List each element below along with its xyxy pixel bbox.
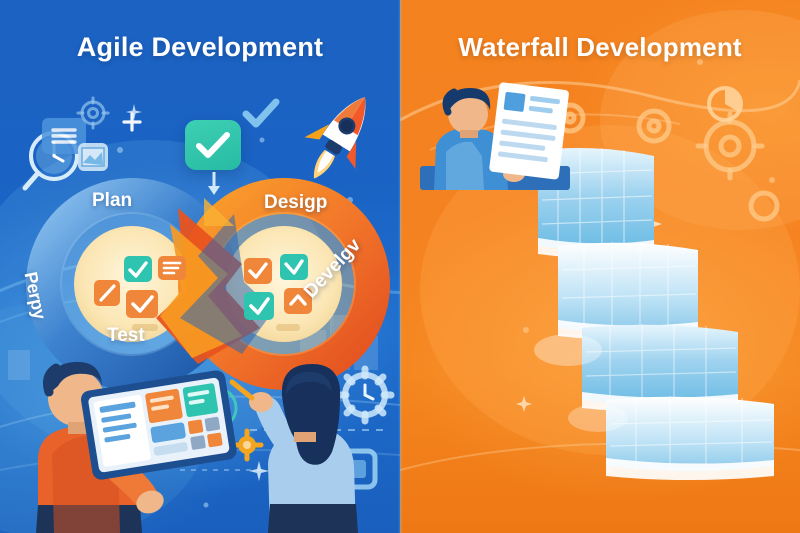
analyst-pointing [236,336,376,533]
loop-label-plan: Plan [92,190,132,212]
requirements-author [420,80,570,190]
developer-with-tablet [8,330,198,533]
blue-check-icon [240,96,282,130]
rocket-icon [290,82,390,192]
hamburger-list-icon [42,118,86,154]
waterfall-panel: Waterfall Development [400,0,800,533]
waterfall-cascade [528,150,780,480]
power-icon [193,385,239,431]
gear-icon [76,96,110,130]
sparkle-small-icon [126,104,142,120]
infographic-canvas: Agile Development [0,0,800,533]
image-chart-icon [78,143,108,171]
panel-divider [398,0,403,533]
loop-label-design: Desigp [264,192,327,214]
waterfall-title: Waterfall Development [400,32,800,63]
plus-icon [120,110,144,134]
check-badge-icon [185,120,241,170]
agile-title: Agile Development [0,32,400,63]
agile-panel: Agile Development [0,0,400,533]
